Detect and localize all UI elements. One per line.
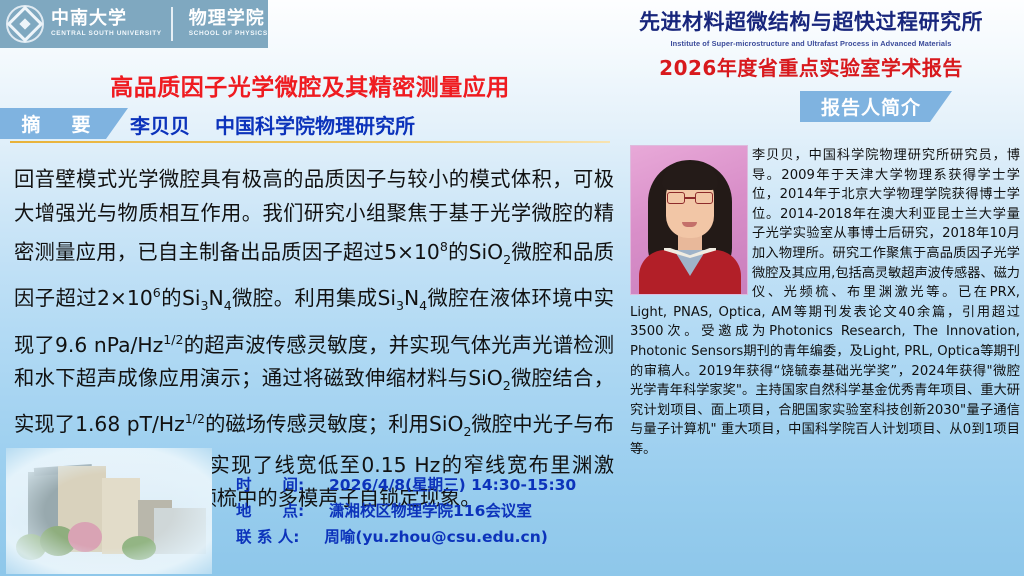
abstract-underline [10,141,610,143]
event-place-label: 地 点: [236,502,304,520]
school-name-group: 物理学院 SCHOOL OF PHYSICS [189,10,268,38]
school-name-en: SCHOOL OF PHYSICS [189,31,268,38]
institute-name-en: Institute of Super-microstructure and Ul… [606,39,1016,48]
event-details: 时 间: 2026/4/8(星期三) 14:30-15:30 地 点: 潇湘校区… [236,472,576,550]
event-contact-row: 联 系 人: 周喻(yu.zhou@csu.edu.cn) [236,524,576,550]
event-contact-value: 周喻(yu.zhou@csu.edu.cn) [324,528,548,546]
event-time-label: 时 间: [236,476,304,494]
report-series-title: 2026年度省重点实验室学术报告 [606,52,1016,81]
event-place-value: 潇湘校区物理学院116会议室 [329,502,532,520]
institute-header: 先进材料超微结构与超快过程研究所 Institute of Super-micr… [606,6,1016,81]
event-place-row: 地 点: 潇湘校区物理学院116会议室 [236,498,576,524]
university-name-en: CENTRAL SOUTH UNIVERSITY [51,31,162,38]
school-name-cn: 物理学院 [189,10,268,28]
campus-building-photo [6,448,212,574]
speaker-affiliation: 中国科学院物理研究所 [215,114,415,138]
abstract-tab-label: 摘 要 [0,108,128,139]
seminar-poster: 中南大学 CENTRAL SOUTH UNIVERSITY 物理学院 SCHOO… [0,0,1024,576]
event-contact-label: 联 系 人: [236,528,300,546]
speaker-portrait [630,145,748,295]
university-name-group: 中南大学 CENTRAL SOUTH UNIVERSITY [51,10,162,38]
logo-divider [171,7,173,41]
abstract-tab-row: 摘 要 李贝贝 中国科学院物理研究所 [0,108,620,144]
university-logo-bar: 中南大学 CENTRAL SOUTH UNIVERSITY 物理学院 SCHOO… [0,0,268,48]
talk-title: 高品质因子光学微腔及其精密测量应用 [0,68,620,102]
university-name-cn: 中南大学 [51,10,162,28]
csu-seal-icon [6,5,44,43]
event-time-value: 2026/4/8(星期三) 14:30-15:30 [329,476,576,494]
glasses-icon [666,192,714,204]
speaker-line: 李贝贝 中国科学院物理研究所 [130,110,415,139]
speaker-name: 李贝贝 [130,114,190,138]
event-time-row: 时 间: 2026/4/8(星期三) 14:30-15:30 [236,472,576,498]
institute-name-cn: 先进材料超微结构与超快过程研究所 [606,6,1016,36]
bio-tab-label: 报告人简介 [800,91,952,122]
